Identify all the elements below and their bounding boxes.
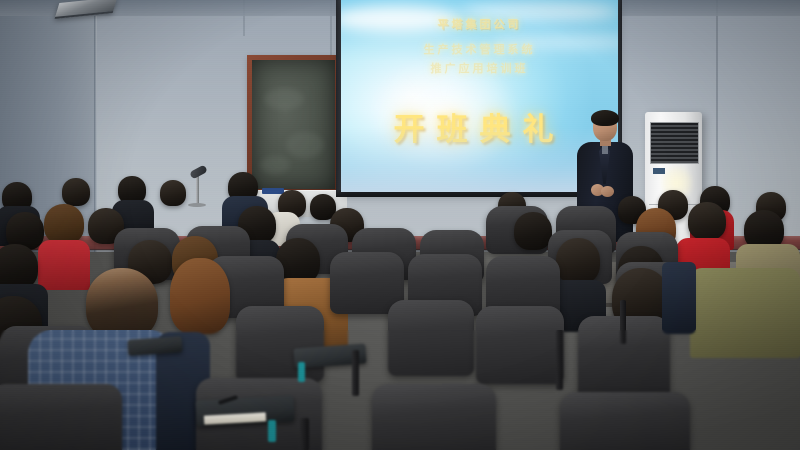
slide-subtitle-line-1: 生产技术管理系统 [341, 41, 618, 58]
seat-leg [556, 330, 563, 390]
chalk-smudge [264, 88, 304, 110]
auditorium-seat [476, 306, 564, 384]
slide-subtitle-line-2: 推广应用培训班 [341, 60, 618, 77]
slide-company-line: 平塔集团公司 [341, 16, 618, 32]
auditorium-seat-front [372, 384, 496, 450]
seat-leg [620, 300, 626, 344]
audience-head [556, 238, 600, 284]
audience-head [170, 258, 230, 334]
audience-head [514, 212, 552, 250]
tablet-support [268, 420, 276, 442]
air-conditioner-display [653, 168, 665, 174]
air-conditioner-grille [650, 122, 699, 164]
audience-head [160, 180, 186, 206]
audience-head [62, 178, 90, 206]
chalkboard-surface [252, 60, 335, 189]
presenter-hair [591, 110, 619, 126]
seat-leg [300, 418, 309, 450]
auditorium-seat-front [560, 392, 690, 450]
presenter-hand [601, 186, 614, 197]
audience-head [688, 202, 726, 240]
audience-torso [38, 240, 90, 290]
auditorium-seat-front [0, 384, 122, 450]
slide-header-text: 平塔集团公司 生产技术管理系统 推广应用培训班 [341, 16, 618, 77]
standing-attendee-legs [662, 262, 696, 334]
auditorium-seat [236, 306, 324, 382]
auditorium-seat [388, 300, 474, 376]
auditorium-photo: 平塔集团公司 生产技术管理系统 推广应用培训班 开班典礼 [0, 0, 800, 450]
board-marker [262, 188, 284, 194]
microphone-base [188, 203, 206, 207]
audience-head [44, 204, 84, 244]
audience-torso [690, 268, 800, 358]
chalk-smudge [286, 132, 324, 158]
chalkboard-frame [247, 55, 339, 195]
chalk-smudge [260, 156, 290, 174]
seat-leg [352, 350, 359, 396]
tablet-support [298, 362, 305, 382]
